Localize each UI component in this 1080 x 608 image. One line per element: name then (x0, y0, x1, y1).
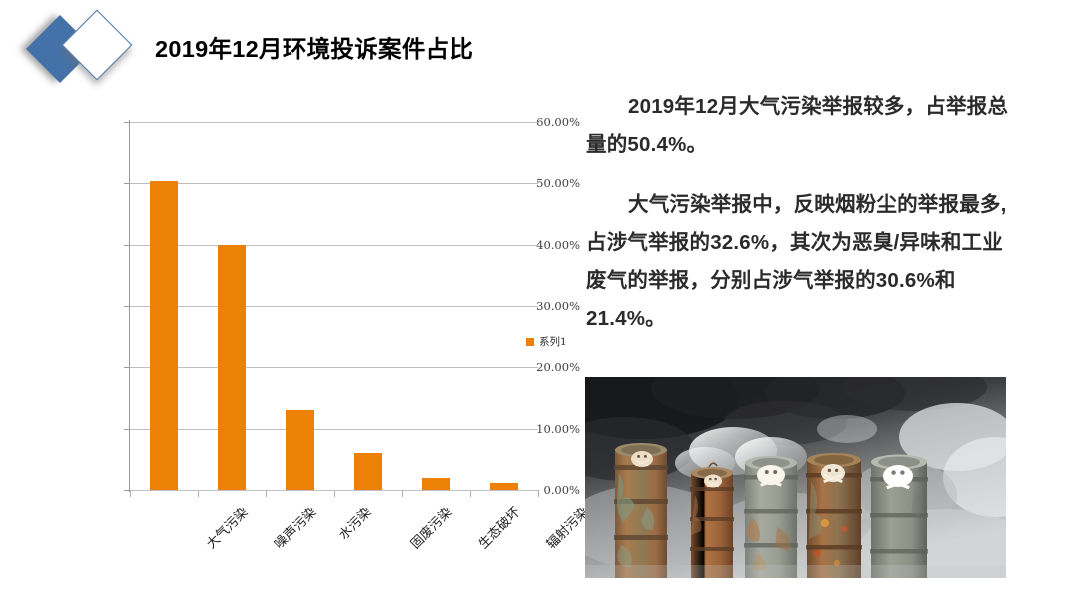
gridline (130, 122, 538, 123)
x-tick-mark (402, 491, 403, 497)
slide-header: 2019年12月环境投诉案件占比 (0, 0, 1080, 92)
paragraph-1: 2019年12月大气污染举报较多，占举报总量的50.4%。 (586, 88, 1016, 164)
barrel-3 (744, 456, 798, 578)
logo-mark (28, 12, 146, 86)
x-axis-label-水污染: 水污染 (333, 502, 374, 543)
x-tick-mark (198, 491, 199, 497)
x-tick-mark (130, 491, 131, 497)
chart-legend: 系列1 (526, 334, 567, 349)
barrel-1 (614, 443, 668, 578)
x-tick-mark (334, 491, 335, 497)
barrel-5 (870, 455, 928, 579)
gridline (130, 429, 538, 430)
legend-swatch-series1 (526, 338, 534, 346)
x-axis-label-固废污染: 固废污染 (405, 502, 455, 552)
paragraph-2: 大气污染举报中，反映烟粉尘的举报最多,占涉气举报的32.6%，其次为恶臭/异味和… (586, 186, 1016, 338)
plot-area (130, 122, 538, 490)
bar-噪声污染[interactable] (218, 245, 245, 490)
toxic-barrels-illustration (585, 377, 1006, 578)
page-title: 2019年12月环境投诉案件占比 (155, 33, 473, 65)
x-axis-label-辐射污染: 辐射污染 (541, 502, 591, 552)
gridline (130, 367, 538, 368)
x-axis-label-生态破坏: 生态破坏 (473, 502, 523, 552)
gridline (130, 245, 538, 246)
legend-label-series1: 系列1 (539, 334, 567, 349)
toxic-barrels-photo (585, 377, 1006, 578)
barrel-4 (806, 453, 862, 578)
bar-chart: 0.00%10.00%20.00%30.00%40.00%50.00%60.00… (40, 100, 580, 590)
x-tick-mark (266, 491, 267, 497)
gridline (130, 306, 538, 307)
bar-生态破坏[interactable] (422, 478, 449, 490)
x-tick-mark (470, 491, 471, 497)
bar-大气污染[interactable] (150, 181, 177, 490)
commentary-text-panel: 2019年12月大气污染举报较多，占举报总量的50.4%。 大气污染举报中，反映… (586, 88, 1016, 360)
bar-辐射污染[interactable] (490, 483, 517, 490)
x-axis-label-噪声污染: 噪声污染 (269, 502, 319, 552)
gridline (130, 183, 538, 184)
bar-固废污染[interactable] (354, 453, 381, 490)
barrel-2 (690, 463, 734, 578)
x-tick-mark (538, 491, 539, 497)
bar-水污染[interactable] (286, 410, 313, 490)
x-axis-label-大气污染: 大气污染 (201, 502, 251, 552)
